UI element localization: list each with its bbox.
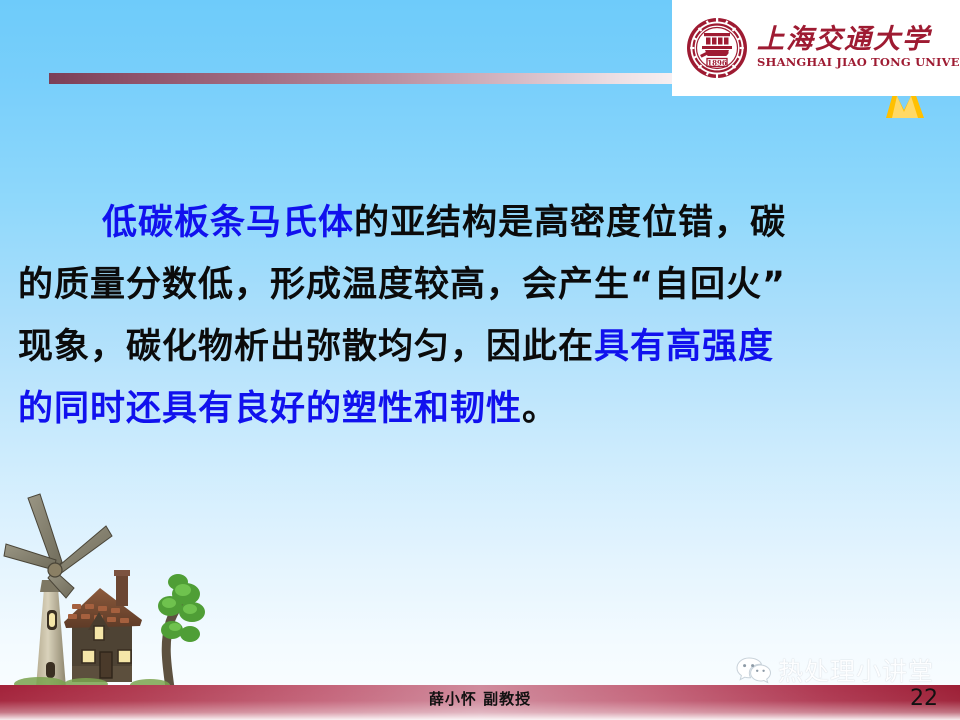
svg-text:1896: 1896 [707,58,727,67]
slide-canvas: 1896 上海交通大学 SHANGHAI JIAO TONG UNIVERSIT… [0,0,960,720]
text-run: 的质量分数低，形成温度较高，会产生“自回火” [18,265,786,305]
wechat-watermark: 热处理小讲堂 [736,652,934,688]
body-text-line: 低碳板条马氏体的亚结构是高密度位错，碳 [18,192,952,254]
logo-name-cn: 上海交通大学 [757,26,960,54]
windmill-cottage-illustration [0,470,250,688]
body-text-line: 现象，碳化物析出弥散均匀，因此在具有高强度 [18,316,952,378]
body-text-line: 的同时还具有良好的塑性和韧性。 [18,378,952,440]
page-number: 22 [910,686,938,711]
text-run: 。 [522,389,558,429]
logo-name-en: SHANGHAI JIAO TONG UNIVERSITY [757,56,960,70]
highlighted-text-run: 低碳板条马氏体 [102,203,354,243]
footer-bar: 薛小怀 副教授 22 [0,685,960,720]
highlighted-text-run: 的同时还具有良好的塑性和韧性 [18,389,522,429]
watermark-label: 热处理小讲堂 [778,652,934,688]
university-logo: 1896 上海交通大学 SHANGHAI JIAO TONG UNIVERSIT… [672,0,960,96]
highlighted-text-run: 具有高强度 [594,327,774,367]
sjtu-seal-icon: 1896 [686,17,748,79]
slide-body-text: 低碳板条马氏体的亚结构是高密度位错，碳的质量分数低，形成温度较高，会产生“自回火… [18,192,952,440]
text-run: 的亚结构是高密度位错，碳 [354,203,786,243]
text-run: 现象，碳化物析出弥散均匀，因此在 [18,327,594,367]
decorative-rule [49,73,725,84]
body-text-line: 的质量分数低，形成温度较高，会产生“自回火” [18,254,952,316]
footer-author: 薛小怀 副教授 [0,688,960,709]
wechat-icon [736,656,772,684]
